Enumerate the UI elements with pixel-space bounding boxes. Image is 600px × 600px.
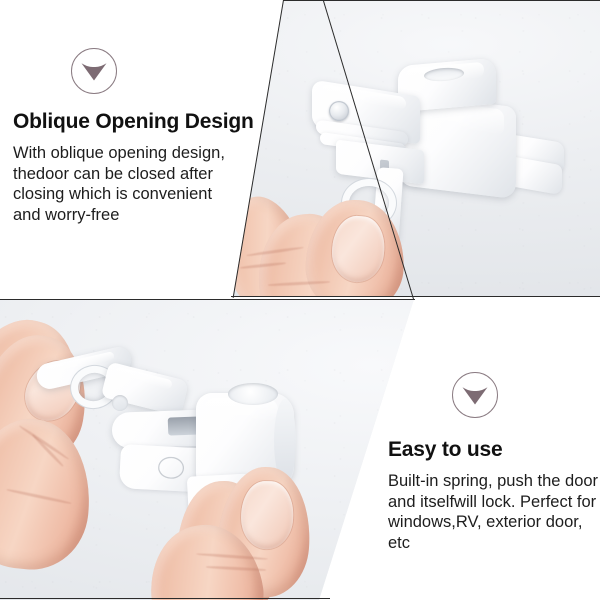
thumbnail-bottom: [240, 480, 294, 550]
infographic-page: Oblique Opening Design With oblique open…: [0, 0, 600, 600]
body-line: Built-in spring, push the door: [388, 472, 598, 490]
section-heading-oblique: Oblique Opening Design: [13, 110, 254, 134]
body-line: closing which is convenient: [13, 185, 212, 203]
lock-screw: [329, 101, 349, 121]
body-line: and itselfwill lock. Perfect for: [388, 493, 596, 511]
thumbnail-top: [329, 214, 387, 284]
section-body-easy: Built-in spring, push the doorand itself…: [388, 471, 600, 553]
body-line: windows,RV, exterior door, etc: [388, 513, 582, 552]
text-block-easy-to-use: Easy to use Built-in spring, push the do…: [370, 300, 600, 600]
section-body-oblique: With oblique opening design,thedoor can …: [13, 143, 239, 225]
chevron-down-icon: [71, 48, 117, 94]
lock-cylinder-top-cap: [228, 383, 278, 405]
section-heading-easy: Easy to use: [388, 438, 503, 462]
body-line: and worry-free: [13, 206, 119, 224]
text-block-oblique-opening: Oblique Opening Design With oblique open…: [0, 0, 250, 298]
lock-arm-boss: [112, 395, 128, 411]
panel-top-bottom-edge: [231, 296, 600, 297]
body-line: thedoor can be closed after: [13, 165, 213, 183]
body-line: With oblique opening design,: [13, 144, 225, 162]
chevron-down-icon: [452, 372, 498, 418]
